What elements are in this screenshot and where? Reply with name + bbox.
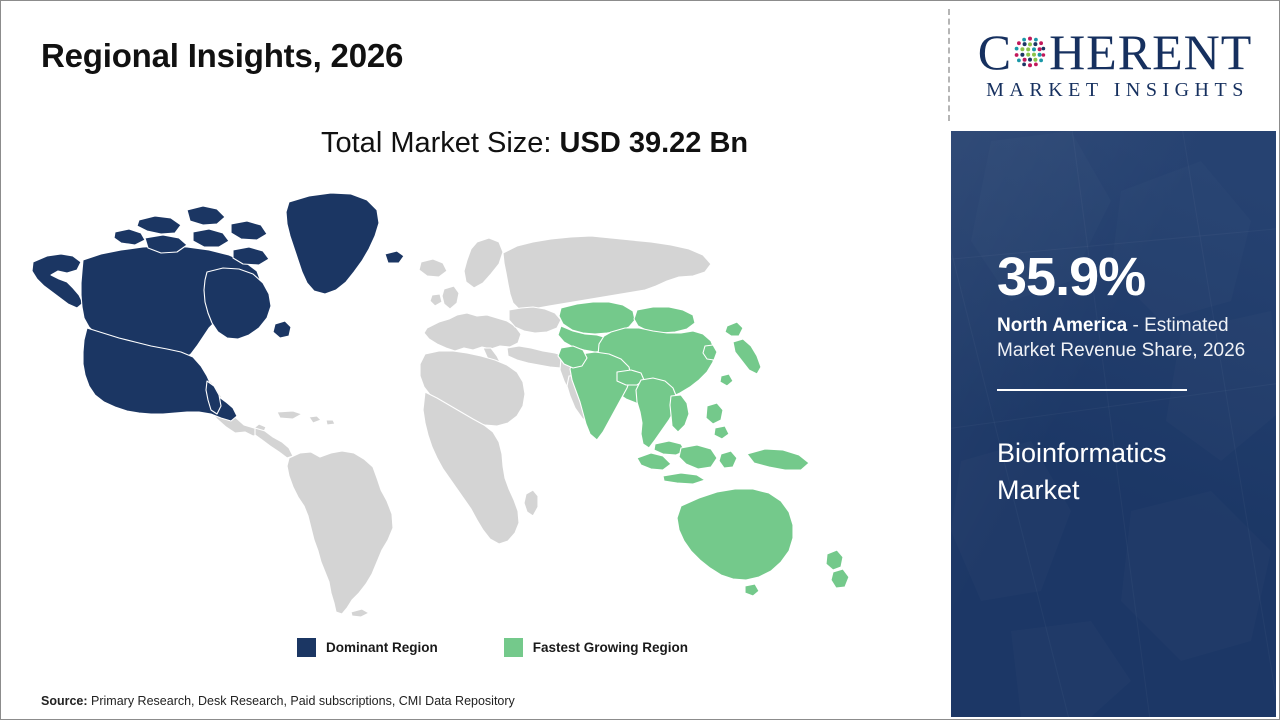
world-map-svg: [21, 176, 911, 621]
source-label: Source:: [41, 694, 88, 708]
page-title: Regional Insights, 2026: [41, 37, 403, 75]
legend-item-dominant: Dominant Region: [297, 638, 438, 657]
left-content-panel: Regional Insights, 2026 Total Market Siz…: [1, 1, 948, 719]
company-logo: C: [951, 1, 1279, 129]
market-size-value: USD 39.22 Bn: [560, 127, 749, 159]
panel-horizontal-rule: [997, 389, 1187, 391]
map-region-north-america: [32, 193, 404, 421]
logo-wordmark: C: [978, 29, 1253, 75]
logo-word-rest: HERENT: [1049, 27, 1252, 77]
stat-percentage: 35.9%: [997, 249, 1265, 306]
square-swatch-icon: [297, 638, 316, 657]
dotted-globe-icon: [1012, 34, 1048, 70]
legend-item-fastest-growing: Fastest Growing Region: [504, 638, 688, 657]
map-region-asia-pacific: [558, 302, 849, 596]
world-map: [21, 176, 911, 621]
source-footer: Source: Primary Research, Desk Research,…: [41, 694, 515, 708]
square-swatch-icon: [504, 638, 523, 657]
market-size-label: Total Market Size:: [321, 127, 551, 159]
market-name: Bioinformatics Market: [997, 435, 1247, 508]
source-text: Primary Research, Desk Research, Paid su…: [91, 694, 515, 708]
legend-label-fastest-growing: Fastest Growing Region: [533, 640, 688, 655]
stat-description: North America - Estimated Market Revenue…: [997, 313, 1259, 364]
panel-content: 35.9% North America - Estimated Market R…: [997, 249, 1265, 508]
infographic-frame: Regional Insights, 2026 Total Market Siz…: [0, 0, 1280, 720]
right-column: C: [949, 1, 1279, 719]
map-legend: Dominant Region Fastest Growing Region: [297, 638, 688, 657]
logo-letter-c: C: [978, 27, 1011, 77]
stat-region-name: North America: [997, 315, 1127, 336]
total-market-size: Total Market Size: USD 39.22 Bn: [321, 127, 748, 160]
logo-subtitle: MARKET INSIGHTS: [981, 79, 1249, 102]
regional-stat-panel: 35.9% North America - Estimated Market R…: [951, 131, 1276, 717]
legend-label-dominant: Dominant Region: [326, 640, 438, 655]
